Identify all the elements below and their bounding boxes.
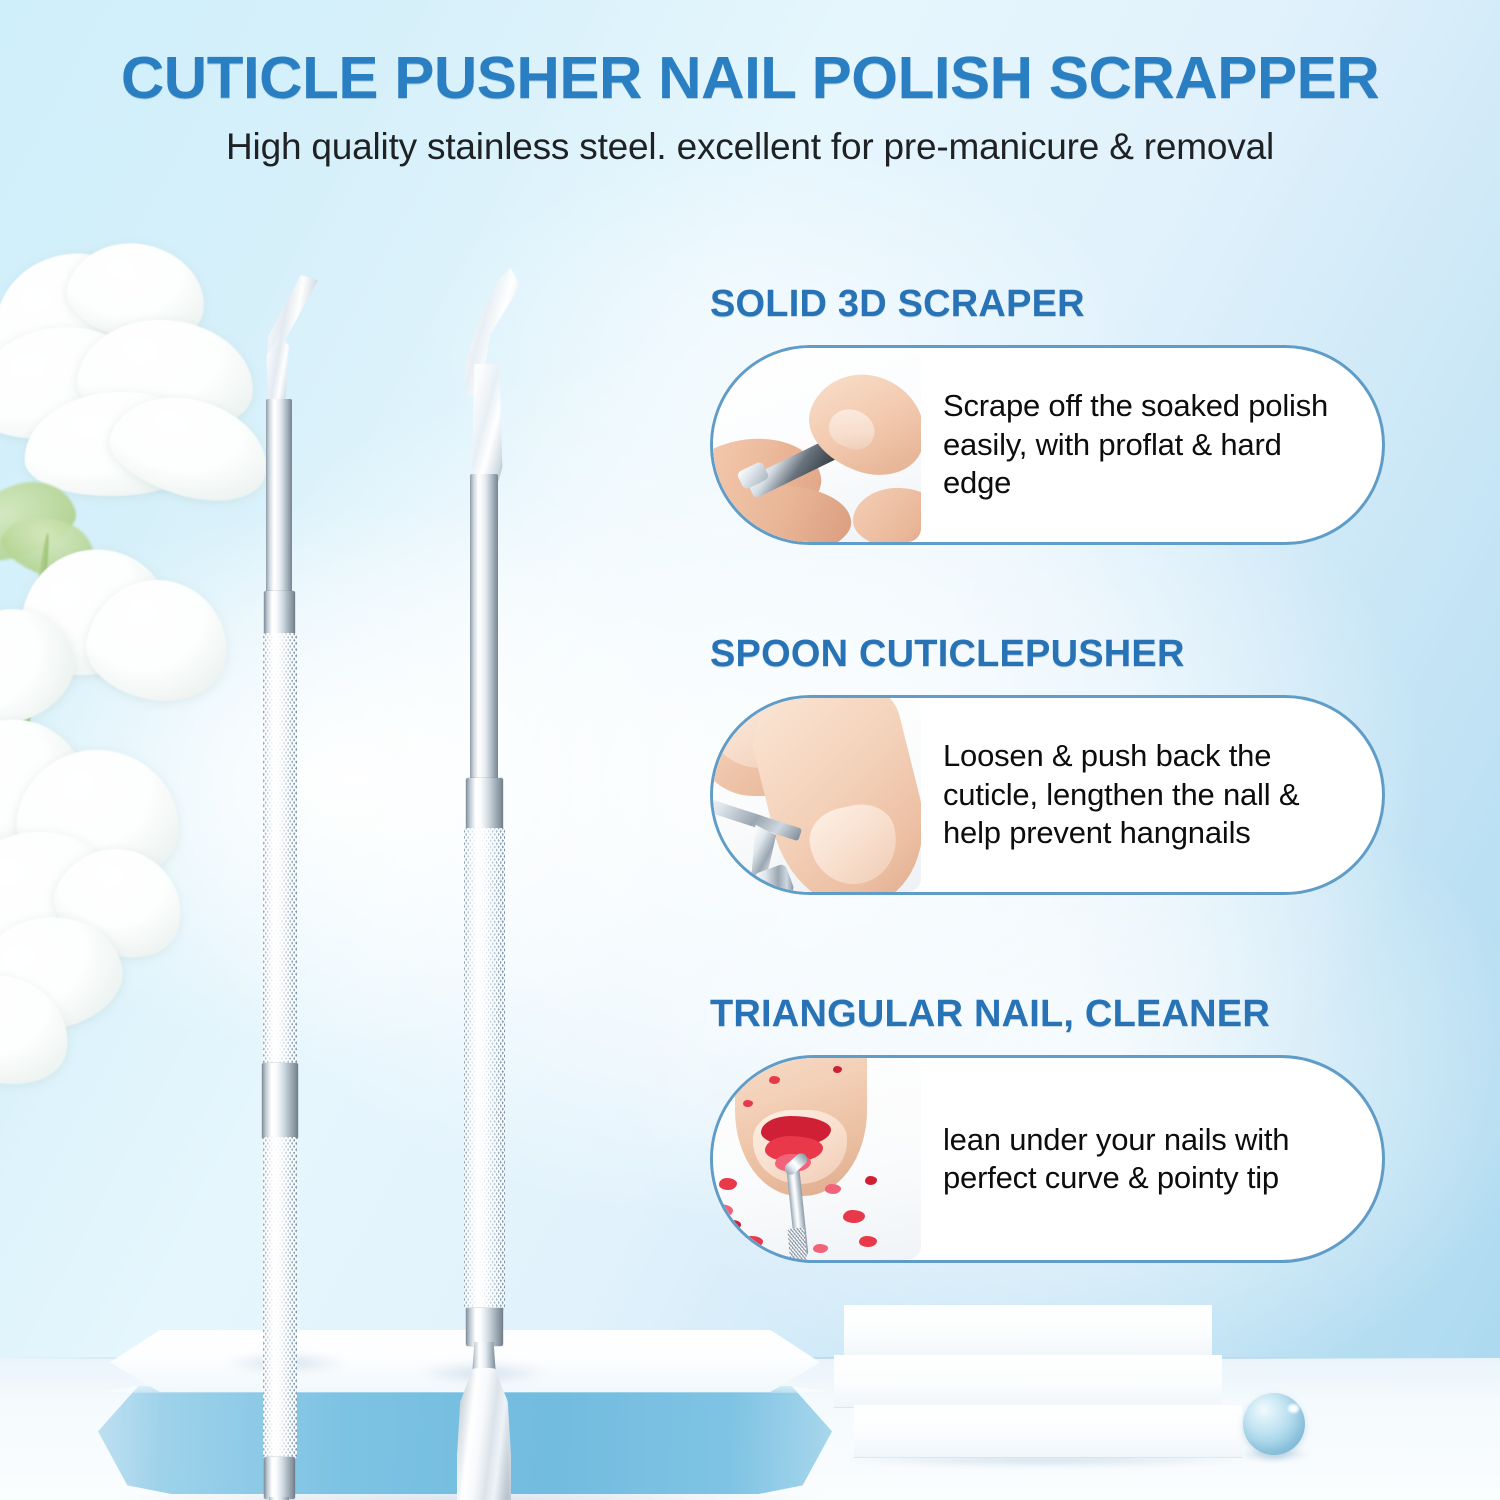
blue-sphere [1243,1393,1305,1455]
feature-text-spoon-cuticlepusher: Loosen & push back the cuticle, lengthen… [921,737,1382,852]
block-tier-3 [854,1405,1242,1457]
upper-shaft [470,474,498,784]
knurled-handle [464,828,505,1310]
feature-card-solid-3d-scraper: Scrape off the soaked polish easily, wit… [710,345,1385,545]
background-haze-left [0,500,760,1060]
upper-shaft [266,399,292,597]
feature-triangular-nail-cleaner: TRIANGULAR NAIL, CLEANER [710,993,1390,1283]
feature-title-spoon-cuticlepusher: SPOON CUTICLEPUSHER [710,633,1185,676]
block-tier-1 [844,1305,1212,1357]
block-tier-2 [834,1355,1222,1407]
nail-cleaner-under-nail-photo [713,1058,921,1260]
knurled-handle-upper [263,633,297,1065]
upper-collar [264,591,295,635]
spoon-paddle-tip [457,1368,511,1500]
white-stepped-blocks [826,1305,1246,1455]
feature-text-triangular-nail-cleaner: lean under your nails with perfect curve… [921,1121,1382,1198]
knurled-handle-lower [263,1137,297,1459]
header: CUTICLE PUSHER NAIL POLISH SCRAPPER High… [0,0,1500,168]
lower-collar [264,1457,295,1499]
product-infographic: CUTICLE PUSHER NAIL POLISH SCRAPPER High… [0,0,1500,1500]
product-cuticle-pusher-triangle-tool [238,275,328,1355]
feature-solid-3d-scraper: SOLID 3D SCRAPER Scrape off the soaked p… [710,283,1390,553]
feature-text-solid-3d-scraper: Scrape off the soaked polish easily, wit… [921,387,1382,502]
sphere-specular-highlight [1288,1404,1299,1413]
middle-collar-band [262,1063,298,1139]
page-subtitle: High quality stainless steel. excellent … [0,127,1500,168]
hand-holding-scraper-photo [713,348,921,542]
feature-title-triangular-nail-cleaner: TRIANGULAR NAIL, CLEANER [710,993,1270,1036]
feature-card-triangular-nail-cleaner: lean under your nails with perfect curve… [710,1055,1385,1263]
page-title: CUTICLE PUSHER NAIL POLISH SCRAPPER [0,48,1500,109]
product-spoon-pusher-scraper-tool [428,268,538,1388]
upper-collar [466,778,503,830]
cuticle-pusher-on-nail-photo [713,698,921,892]
feature-card-spoon-cuticlepusher: Loosen & push back the cuticle, lengthen… [710,695,1385,895]
lower-collar [466,1308,503,1346]
feature-title-solid-3d-scraper: SOLID 3D SCRAPER [710,283,1085,326]
feature-spoon-cuticlepusher: SPOON CUTICLEPUSHER Loosen & push back t… [710,633,1390,903]
